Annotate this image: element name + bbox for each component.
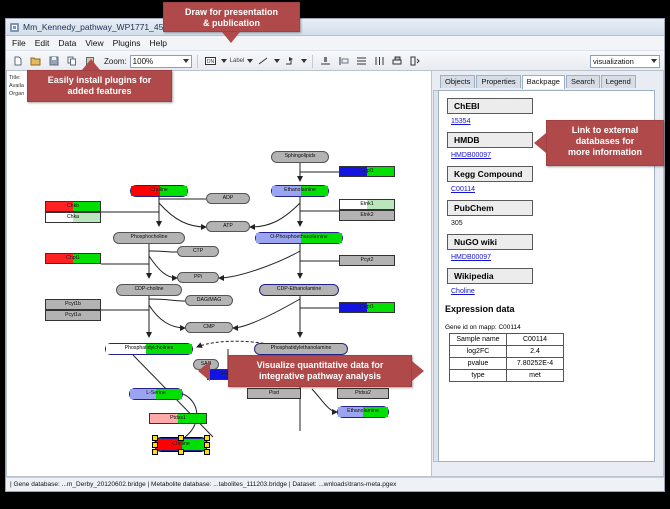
svg-text:DN: DN: [207, 59, 215, 65]
node-label: Pisd: [269, 391, 279, 396]
node-label: CDP-Ethanolamine: [277, 287, 321, 292]
callout-link-arrow-icon: [534, 133, 546, 153]
section-nugo-wiki: NuGO wiki HMDB00097: [447, 232, 654, 261]
section-title: Wikipedia: [447, 268, 533, 284]
node-label: Ptdss1: [170, 416, 186, 421]
window-titlebar: Mm_Kennedy_pathway_WP1771_45176.gpml: [6, 19, 664, 36]
node-sphingolipids[interactable]: Sphingolipids: [271, 151, 329, 163]
table-cell-value: met: [507, 370, 564, 382]
callout-visualize-arrow-right-icon: [412, 361, 424, 381]
section-link[interactable]: C00114: [451, 186, 654, 193]
distribute-vertical-icon[interactable]: [354, 54, 369, 69]
callout-line: Link to external: [553, 125, 657, 136]
new-file-icon[interactable]: [10, 54, 25, 69]
node-label: Cept1: [360, 305, 374, 310]
visualization-select[interactable]: visualization: [590, 55, 660, 68]
table-cell-value: 7.80252E-4: [507, 358, 564, 370]
node-chpt1[interactable]: Chpt1: [45, 253, 101, 264]
menu-item-plugins[interactable]: Plugins: [113, 38, 141, 48]
screenshot-root: Mm_Kennedy_pathway_WP1771_45176.gpml Fil…: [0, 0, 670, 509]
node-label: Choline: [150, 188, 168, 193]
node-l-serine-left[interactable]: L-Serine: [129, 388, 183, 400]
node-label: Ethanolamine: [347, 409, 379, 414]
callout-visualize-arrow-left-icon: [198, 361, 210, 381]
node-label: ATP: [223, 224, 233, 229]
callout-plugins-arrow-icon: [82, 59, 100, 70]
node-ptdss1[interactable]: Ptdss1: [149, 413, 207, 424]
node-cmp[interactable]: CMP: [185, 322, 233, 333]
tab-search[interactable]: Search: [566, 75, 600, 88]
node-label: PPi: [194, 275, 202, 280]
status-bar: | Gene database: ...m_Derby_20120602.bri…: [6, 477, 664, 491]
menu-item-view[interactable]: View: [85, 38, 103, 48]
node-label: CDP-choline: [134, 287, 163, 292]
node-label: Ethanolamine: [284, 188, 316, 193]
node-label: Etnk2: [360, 213, 373, 218]
chevron-down-icon[interactable]: [274, 59, 280, 63]
node-pisd[interactable]: Pisd: [247, 388, 301, 399]
node-etnk1[interactable]: Etnk1: [339, 199, 395, 210]
table-cell-key: Sample name: [450, 334, 507, 346]
zoom-select[interactable]: 100%: [130, 55, 192, 68]
section-title: ChEBI: [447, 98, 533, 114]
section-kegg-compound: Kegg Compound C00114: [447, 164, 654, 193]
tab-backpage[interactable]: Backpage: [522, 75, 565, 89]
section-link[interactable]: HMDB00097: [451, 254, 654, 261]
tab-legend[interactable]: Legend: [601, 75, 636, 88]
callout-line: Easily install plugins for: [34, 75, 165, 86]
expression-table: Sample name C00114 log2FC 2.4 pvalue 7.8…: [449, 333, 564, 382]
chevron-down-icon: [651, 59, 657, 63]
chevron-down-icon: [183, 59, 189, 63]
callout-line: databases for: [553, 136, 657, 147]
selection-handle[interactable]: [204, 442, 210, 448]
table-cell-key: pvalue: [450, 358, 507, 370]
node-label: Chka: [67, 215, 79, 220]
table-cell-key: type: [450, 370, 507, 382]
table-cell-key: log2FC: [450, 346, 507, 358]
copy-icon[interactable]: [64, 54, 79, 69]
node-label: DAG/MAG: [197, 298, 222, 303]
section-title: Kegg Compound: [447, 166, 533, 182]
save-icon[interactable]: [46, 54, 61, 69]
node-label: Chpt1: [66, 256, 80, 261]
node-atp[interactable]: ATP: [206, 221, 250, 232]
node-label: Sgpl1: [360, 169, 373, 174]
callout-link: Link to external databases for more info…: [546, 120, 664, 166]
label-tool-label[interactable]: Label: [230, 58, 245, 64]
selection-handle[interactable]: [152, 442, 158, 448]
gene-id-line: Gene id on mapp: C00114: [445, 324, 654, 331]
node-phosphatidylethanolamine[interactable]: Phosphatidylethanolamine: [254, 343, 348, 355]
menu-item-data[interactable]: Data: [58, 38, 76, 48]
chevron-down-icon[interactable]: [221, 59, 227, 63]
group-icon[interactable]: [390, 54, 405, 69]
callout-line: Visualize quantitative data for: [235, 360, 405, 371]
node-pcyt1a[interactable]: Pcyt1a: [45, 310, 101, 321]
order-icon[interactable]: [408, 54, 423, 69]
section-title: NuGO wiki: [447, 234, 533, 250]
pathway-canvas[interactable]: Title: Availa Organ: [6, 70, 431, 477]
node-adp[interactable]: ADP: [206, 193, 250, 204]
toolbar-divider: [197, 55, 198, 68]
side-pane-tabs: Objects Properties Backpage Search Legen…: [440, 74, 663, 88]
section-title: HMDB: [447, 132, 533, 148]
selection-handle[interactable]: [152, 435, 158, 441]
node-label: Phosphatidylcholines: [125, 346, 174, 351]
node-chka[interactable]: Chka: [45, 212, 101, 223]
node-choline-top[interactable]: Choline: [130, 185, 188, 197]
section-title: PubChem: [447, 200, 533, 216]
callout-visualize: Visualize quantitative data for integrat…: [228, 355, 412, 387]
node-ethanolamine[interactable]: Ethanolamine: [271, 185, 329, 197]
callout-draw: Draw for presentation & publication: [163, 2, 300, 32]
table-cell-value: C00114: [507, 334, 564, 346]
node-label: Sphingolipids: [285, 154, 316, 159]
chevron-down-icon[interactable]: [301, 59, 307, 63]
table-row: Sample name C00114: [450, 334, 564, 346]
table-cell-value: 2.4: [507, 346, 564, 358]
tab-objects[interactable]: Objects: [440, 75, 475, 88]
distribute-horizontal-icon[interactable]: [372, 54, 387, 69]
align-bottom-icon[interactable]: [318, 54, 333, 69]
callout-line: added features: [34, 86, 165, 97]
menu-item-help[interactable]: Help: [150, 38, 167, 48]
node-phosphocholine[interactable]: Phosphocholine: [113, 232, 185, 244]
node-ppi[interactable]: PPi: [177, 272, 219, 283]
expression-data-heading: Expression data: [445, 304, 654, 314]
node-label: Pcyt2: [361, 258, 374, 263]
menu-item-file[interactable]: File: [12, 38, 26, 48]
selection-handle[interactable]: [152, 449, 158, 455]
node-cdp-choline[interactable]: CDP-choline: [116, 284, 182, 296]
node-cdp-ethanolamine[interactable]: CDP-Ethanolamine: [259, 284, 339, 296]
node-label: O-Phosphoethanolamine: [270, 235, 327, 240]
node-o-phosphoethanolamine[interactable]: O-Phosphoethanolamine: [255, 232, 343, 244]
callout-draw-arrow-icon: [222, 32, 240, 43]
selection-handle[interactable]: [178, 449, 184, 455]
node-chkb[interactable]: Chkb: [45, 201, 101, 212]
align-left-icon[interactable]: [336, 54, 351, 69]
node-label: Phosphatidylethanolamine: [271, 346, 332, 351]
pathvisio-icon: [10, 23, 19, 32]
table-row: type met: [450, 370, 564, 382]
node-ctp[interactable]: CTP: [177, 246, 219, 257]
tab-properties[interactable]: Properties: [476, 75, 520, 88]
node-pcyt2[interactable]: Pcyt2: [339, 255, 395, 266]
chevron-down-icon[interactable]: [247, 59, 253, 63]
node-label: CTP: [193, 249, 203, 254]
node-label: L-Serine: [146, 391, 166, 396]
selection-handle[interactable]: [204, 449, 210, 455]
node-phosphatidylcholines[interactable]: Phosphatidylcholines: [105, 343, 193, 355]
callout-line: & publication: [170, 18, 293, 29]
section-link[interactable]: Choline: [451, 288, 654, 295]
node-pcyt1b[interactable]: Pcyt1b: [45, 299, 101, 310]
callout-line: more information: [553, 147, 657, 158]
menu-item-edit[interactable]: Edit: [35, 38, 50, 48]
node-sgpl1[interactable]: Sgpl1: [339, 166, 395, 177]
node-label: Ptdss2: [355, 391, 371, 396]
node-label: Etnk1: [360, 202, 373, 207]
selection-handle[interactable]: [204, 435, 210, 441]
callout-line: Draw for presentation: [170, 7, 293, 18]
open-folder-icon[interactable]: [28, 54, 43, 69]
node-label: Pcyt1b: [65, 302, 81, 307]
line-icon[interactable]: [256, 54, 271, 69]
callout-plugins: Easily install plugins for added feature…: [27, 70, 172, 102]
node-ptdss2[interactable]: Ptdss2: [337, 388, 389, 399]
visualization-value: visualization: [593, 57, 634, 66]
node-label: ADP: [223, 196, 234, 201]
table-row: log2FC 2.4: [450, 346, 564, 358]
status-bar-text: | Gene database: ...m_Derby_20120602.bri…: [6, 481, 396, 488]
arrow-shape-icon[interactable]: [283, 54, 298, 69]
toolbar-divider: [312, 55, 313, 68]
zoom-value: 100%: [133, 57, 153, 66]
node-dag-mag[interactable]: DAG/MAG: [185, 295, 233, 306]
table-row: pvalue 7.80252E-4: [450, 358, 564, 370]
toolbar: Zoom: 100% DN Label: [6, 51, 664, 72]
node-label: Choline: [172, 442, 190, 447]
callout-line: integrative pathway analysis: [235, 371, 405, 382]
node-cept1[interactable]: Cept1: [339, 302, 395, 313]
selection-handle[interactable]: [178, 435, 184, 441]
zoom-label: Zoom:: [104, 57, 127, 66]
node-etnk2[interactable]: Etnk2: [339, 210, 395, 221]
node-label: Phosphocholine: [131, 235, 168, 240]
section-wikipedia: Wikipedia Choline: [447, 266, 654, 295]
node-label: CMP: [203, 325, 215, 330]
node-label: Chkb: [67, 204, 79, 209]
node-label: Pcyt1a: [65, 313, 81, 318]
section-pubchem: PubChem 305: [447, 198, 654, 227]
menu-bar: File Edit Data View Plugins Help: [6, 36, 664, 51]
data-node-icon[interactable]: DN: [203, 54, 218, 69]
section-value: 305: [451, 220, 654, 227]
node-ethanolamine-right[interactable]: Ethanolamine: [337, 406, 389, 418]
